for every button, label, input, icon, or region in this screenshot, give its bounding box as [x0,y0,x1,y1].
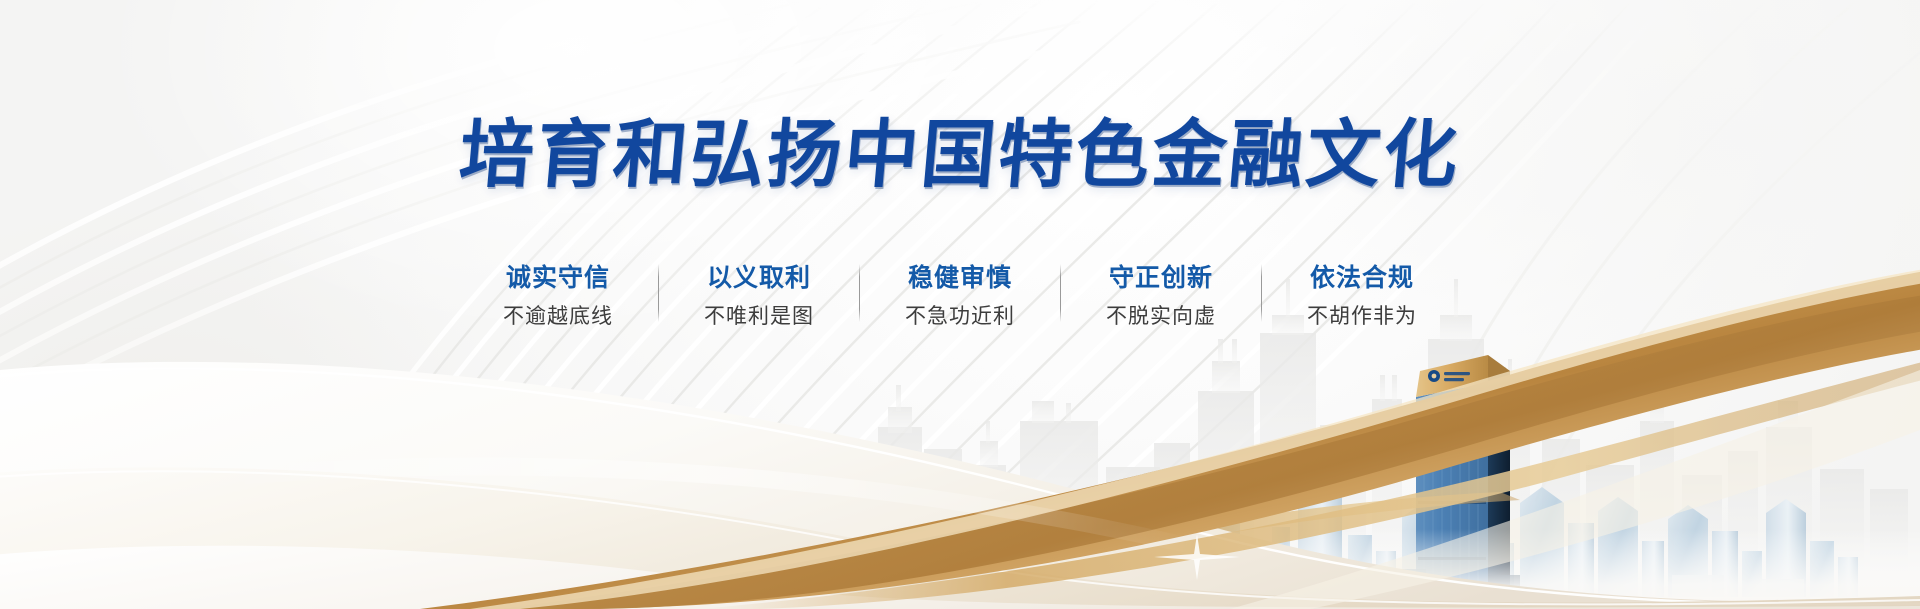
skyline-mid-left [996,469,1464,597]
pillar-item-2: 以义取利 不唯利是图 [685,262,833,330]
pillar-divider [658,264,659,322]
finance-culture-banner: 培育和弘扬中国特色金融文化 诚实守信 不逾越底线 以义取利 不唯利是图 稳健审慎… [0,0,1920,609]
skyline-mid-right [1490,487,1858,597]
pillar-item-3: 稳健审慎 不急功近利 [886,262,1034,330]
pillar-heading: 诚实守信 [506,262,610,293]
pillar-subtext: 不逾越底线 [503,303,613,329]
bank-logo [1428,370,1470,382]
pillar-subtext: 不胡作非为 [1307,303,1417,329]
pillar-heading: 以义取利 [707,262,811,293]
pillar-list: 诚实守信 不逾越底线 以义取利 不唯利是图 稳健审慎 不急功近利 守正创新 不脱… [0,262,1920,330]
pillar-divider [1060,264,1061,322]
banner-content: 培育和弘扬中国特色金融文化 诚实守信 不逾越底线 以义取利 不唯利是图 稳健审慎… [0,0,1920,609]
pillar-subtext: 不唯利是图 [704,303,814,329]
pillar-subtext: 不急功近利 [905,303,1015,329]
page-title: 培育和弘扬中国特色金融文化 [0,118,1920,192]
pillar-divider [1261,264,1262,322]
pillar-heading: 稳健审慎 [908,262,1012,293]
pillar-item-1: 诚实守信 不逾越底线 [484,262,632,330]
sparkle-icon [1154,534,1240,580]
pillar-item-4: 守正创新 不脱实向虚 [1087,262,1235,330]
pillar-heading: 依法合规 [1310,262,1414,293]
pillar-divider [859,264,860,322]
pillar-heading: 守正创新 [1109,262,1213,293]
pillar-subtext: 不脱实向虚 [1106,303,1216,329]
skyline-podiums [1072,565,1804,597]
pillar-item-5: 依法合规 不胡作非为 [1288,262,1436,330]
